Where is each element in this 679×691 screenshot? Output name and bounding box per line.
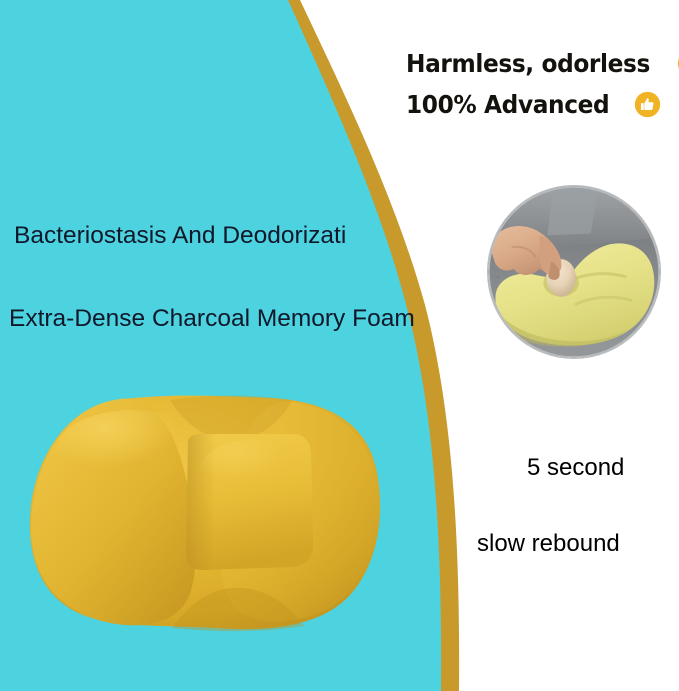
pillow-pad-highlight (200, 440, 304, 500)
headline-line-2: 100% Advanced (406, 92, 609, 117)
headline-row-2: 100% Advanced (406, 85, 679, 123)
feature-text-bacteriostasis: Bacteriostasis And Deodorizati (14, 223, 346, 250)
headline-block: Harmless, odorless 100% Advanced (406, 44, 679, 123)
product-marketing-image: Harmless, odorless 100% Advanced Bacteri… (0, 0, 679, 691)
headline-line-1: Harmless, odorless (406, 51, 650, 76)
pillow-highlight (54, 410, 210, 498)
egg-press-demo-inset (487, 185, 661, 359)
product-pillow-image (20, 392, 388, 636)
egg-press-demo-photo (488, 186, 660, 358)
wall-panel-seam (547, 186, 598, 235)
rebound-text-line-2: slow rebound (477, 531, 620, 557)
feature-text-charcoal-foam: Extra-Dense Charcoal Memory Foam (9, 306, 415, 333)
rebound-text-line-1: 5 second (527, 455, 624, 481)
thumbs-up-icon (634, 91, 661, 118)
headline-row-1: Harmless, odorless (406, 44, 679, 82)
